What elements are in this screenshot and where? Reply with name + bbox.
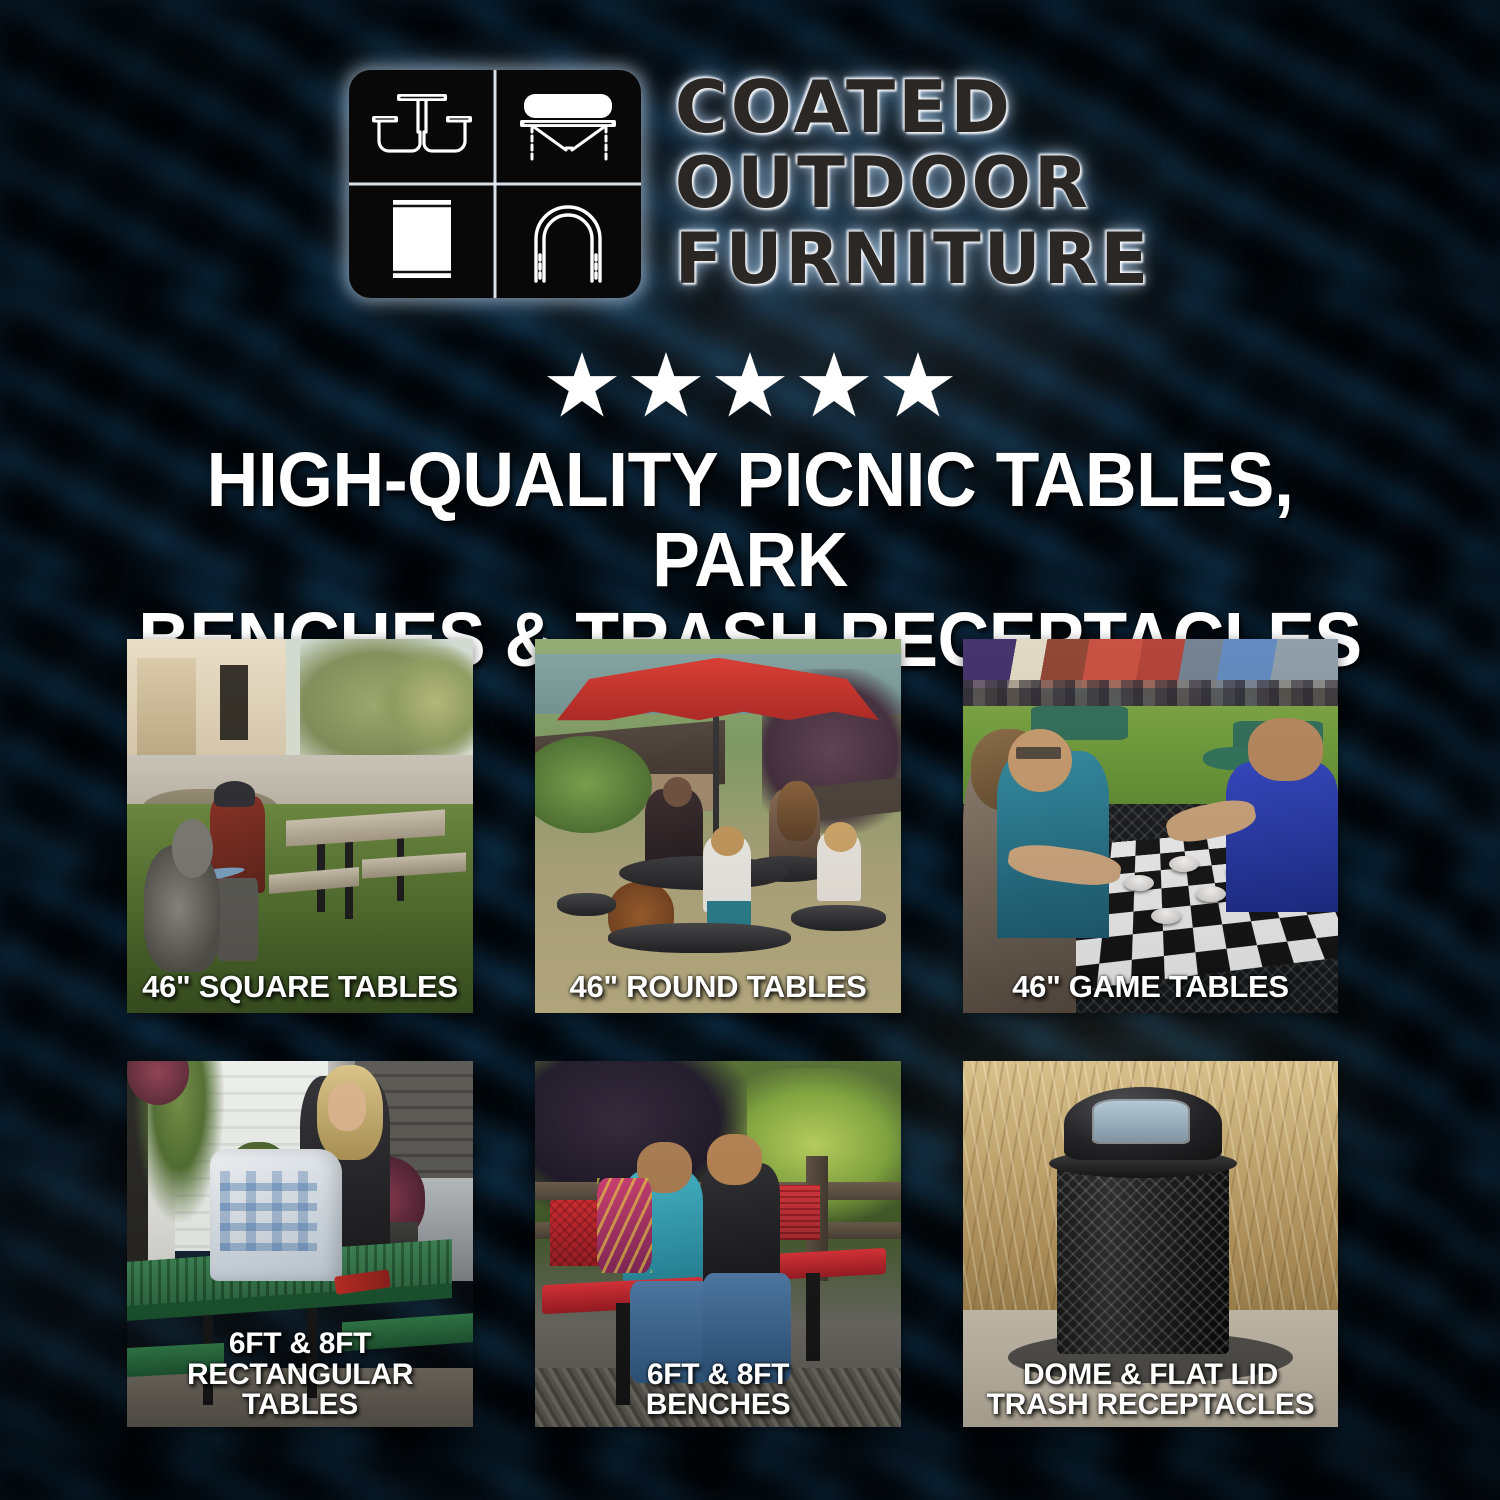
product-label: DOME & FLAT LID TRASH RECEPTACLES: [969, 1360, 1332, 1421]
brand-line-2: OUTDOOR: [675, 149, 1152, 218]
product-label: 6FT & 8FT RECTANGULAR TABLES: [133, 1329, 467, 1421]
brand-line-1: COATED: [675, 72, 1152, 143]
product-photo-round-tables: [535, 639, 901, 1013]
product-tile-benches[interactable]: 6FT & 8FT BENCHES: [535, 1061, 901, 1427]
product-label: 6FT & 8FT BENCHES: [541, 1360, 895, 1421]
bike-rack-icon: [495, 184, 641, 298]
marketing-poster: COATED OUTDOOR FURNITURE HIGH-QUALITY PI…: [0, 0, 1500, 1500]
brand-line-3: FURNITURE: [675, 225, 1152, 294]
bench-icon: [495, 70, 641, 184]
product-label: 46" SQUARE TABLES: [133, 971, 467, 1003]
product-tile-game-tables[interactable]: 46" GAME TABLES: [963, 639, 1338, 1013]
product-label: 46" ROUND TABLES: [541, 971, 895, 1003]
product-tile-square-tables[interactable]: 46" SQUARE TABLES: [127, 639, 473, 1013]
product-photo-square-tables: [127, 639, 473, 1013]
picnic-table-icon: [349, 70, 495, 184]
product-tile-rectangular-tables[interactable]: 6FT & 8FT RECTANGULAR TABLES: [127, 1061, 473, 1427]
star-icon-3: [715, 352, 785, 420]
product-photo-game-tables: [963, 639, 1338, 1013]
brand-logo: COATED OUTDOOR FURNITURE: [0, 70, 1500, 298]
star-icon-5: [883, 352, 953, 420]
brand-wordmark: COATED OUTDOOR FURNITURE: [675, 70, 1152, 294]
star-rating: [0, 352, 1500, 420]
product-label: 46" GAME TABLES: [969, 971, 1332, 1003]
trash-receptacle-icon: [349, 184, 495, 298]
product-tile-round-tables[interactable]: 46" ROUND TABLES: [535, 639, 901, 1013]
product-tile-trash-receptacles[interactable]: DOME & FLAT LID TRASH RECEPTACLES: [963, 1061, 1338, 1427]
product-grid: 46" SQUARE TABLES 46: [127, 639, 1375, 1427]
star-icon-2: [631, 352, 701, 420]
star-icon-1: [547, 352, 617, 420]
star-icon-4: [799, 352, 869, 420]
logo-mark: [349, 70, 641, 298]
